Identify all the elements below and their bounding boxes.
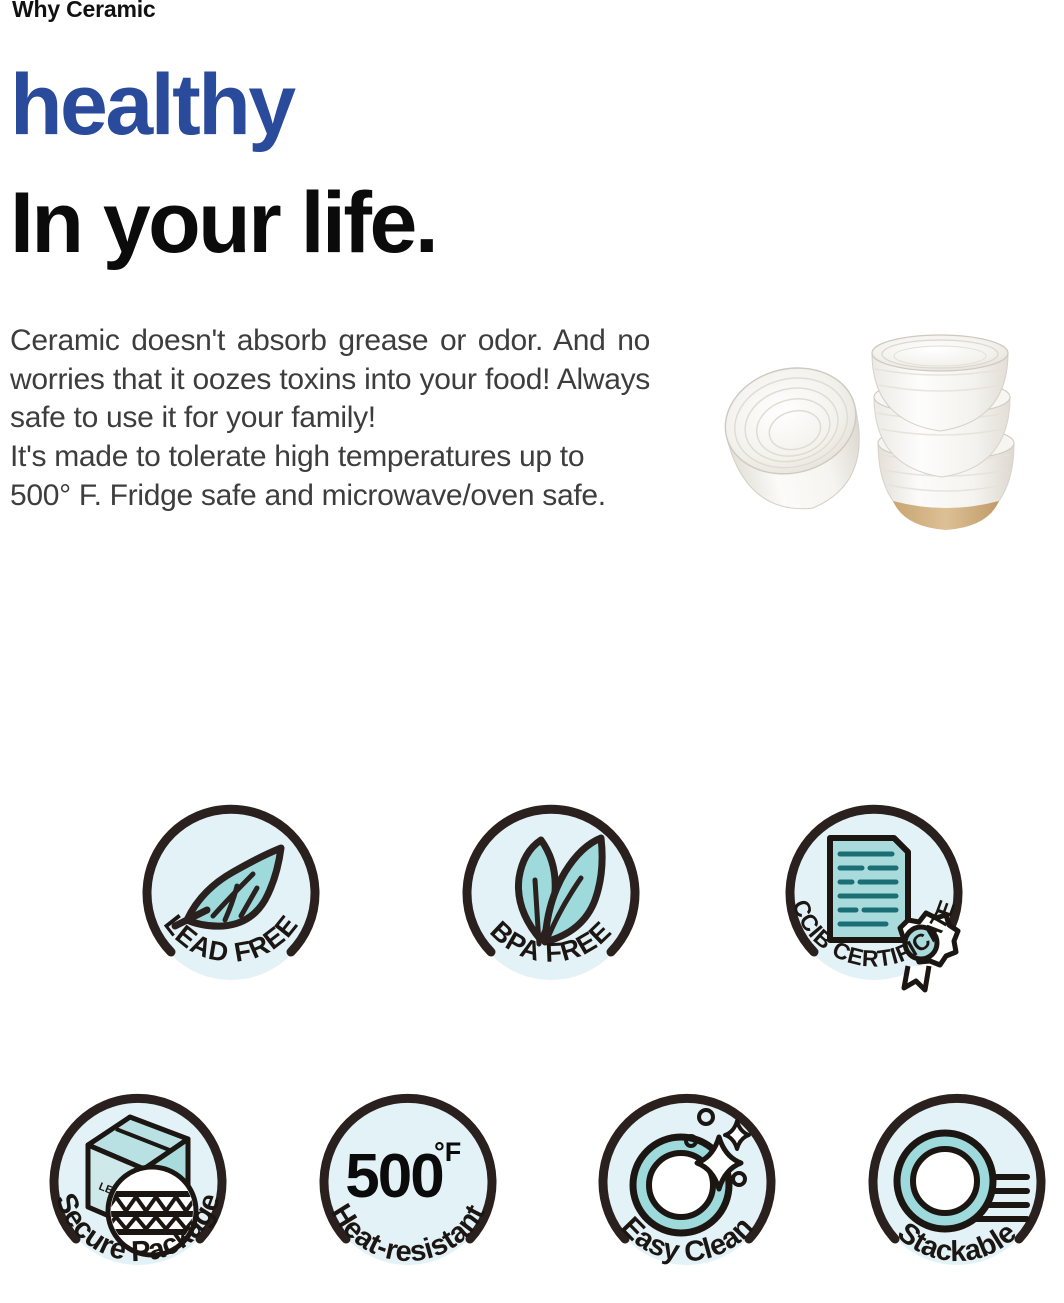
secure-package-badge: LE TAUC Secure Package xyxy=(42,1085,234,1298)
ccib-certificate-badge: CCIB CERTIFICATE xyxy=(778,800,970,1018)
badge-bpa-free: BPA FREE xyxy=(455,800,647,1023)
ceramic-bowls-illustration xyxy=(688,325,1060,560)
page-eyebrow: Why Ceramic xyxy=(12,0,156,23)
body-paragraph-1: Ceramic doesn't absorb grease or odor. A… xyxy=(10,322,650,438)
stackable-badge: Stackable xyxy=(861,1085,1053,1298)
badge-ccib-certificate: CCIB CERTIFICATE xyxy=(778,800,970,1023)
bowl-tilted xyxy=(714,355,876,525)
page-title: In your life. xyxy=(10,180,436,266)
body-paragraph-2: It's made to tolerate high temperatures … xyxy=(10,438,650,515)
temperature-unit: °F xyxy=(434,1137,461,1167)
badge-heat-resistant: 500 °F Heat-resistant xyxy=(312,1085,504,1303)
badge-secure-package: LE TAUC Secure Package xyxy=(42,1085,234,1303)
body-copy: Ceramic doesn't absorb grease or odor. A… xyxy=(10,322,650,515)
badge-lead-free: LEAD FREE xyxy=(135,800,327,1023)
easy-clean-badge: Easy Clean xyxy=(591,1085,783,1298)
temperature-value: 500 xyxy=(345,1142,442,1211)
lead-free-badge: LEAD FREE xyxy=(135,800,327,1018)
bpa-free-badge: BPA FREE xyxy=(455,800,647,1018)
headline-accent: healthy xyxy=(10,62,294,148)
product-photo xyxy=(688,325,1060,565)
badge-stackable: Stackable xyxy=(861,1085,1053,1303)
badge-easy-clean: Easy Clean xyxy=(591,1085,783,1303)
heat-resistant-badge: 500 °F Heat-resistant xyxy=(312,1085,504,1298)
